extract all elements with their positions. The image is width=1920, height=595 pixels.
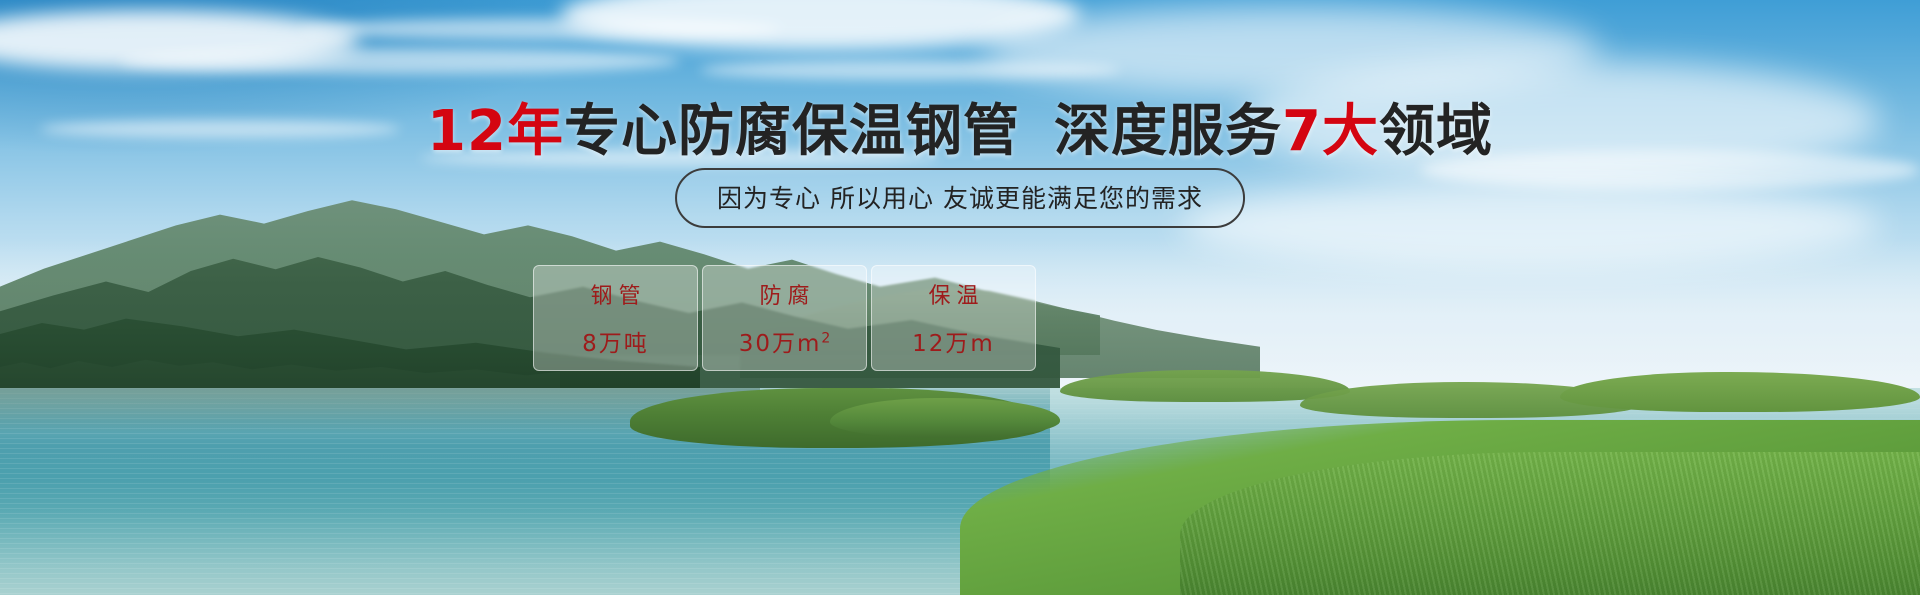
grass-island — [830, 398, 1060, 438]
stat-value-text: 8万吨 — [582, 331, 649, 357]
banner-headline: 12年专心防腐保温钢管深度服务7大领域 — [0, 86, 1920, 167]
stat-card-label: 保温 — [922, 278, 984, 310]
hero-banner: 12年专心防腐保温钢管深度服务7大领域 因为专心 所以用心 友诚更能满足您的需求… — [0, 0, 1920, 595]
headline-fields-highlight: 7大 — [1282, 99, 1379, 164]
stat-card-value: 12万m — [912, 324, 995, 358]
headline-fields-suffix: 领域 — [1379, 99, 1493, 164]
headline-years-highlight: 12年 — [427, 99, 564, 164]
stat-card-value: 8万吨 — [582, 324, 649, 358]
cloud-icon — [120, 48, 680, 74]
grass-islet — [1060, 370, 1350, 402]
stat-card-insulation: 保温 12万m — [871, 265, 1036, 371]
stat-card-steel-pipe: 钢管 8万吨 — [533, 265, 698, 371]
stat-card-anticorrosion: 防腐 30万m2 — [702, 265, 867, 371]
stat-value-text: 12万m — [912, 331, 995, 357]
headline-service-prefix: 深度服务 — [1054, 99, 1282, 164]
stat-card-label: 防腐 — [753, 278, 815, 310]
stat-card-value: 30万m2 — [739, 324, 831, 358]
stat-value-text: 30万m — [739, 331, 822, 357]
stat-card-label: 钢管 — [584, 278, 646, 310]
stat-card-group: 钢管 8万吨 防腐 30万m2 保温 12万m — [533, 265, 1036, 371]
banner-subtitle-pill: 因为专心 所以用心 友诚更能满足您的需求 — [675, 168, 1245, 228]
stat-value-superscript: 2 — [821, 330, 830, 346]
headline-main-text: 专心防腐保温钢管 — [564, 99, 1020, 164]
